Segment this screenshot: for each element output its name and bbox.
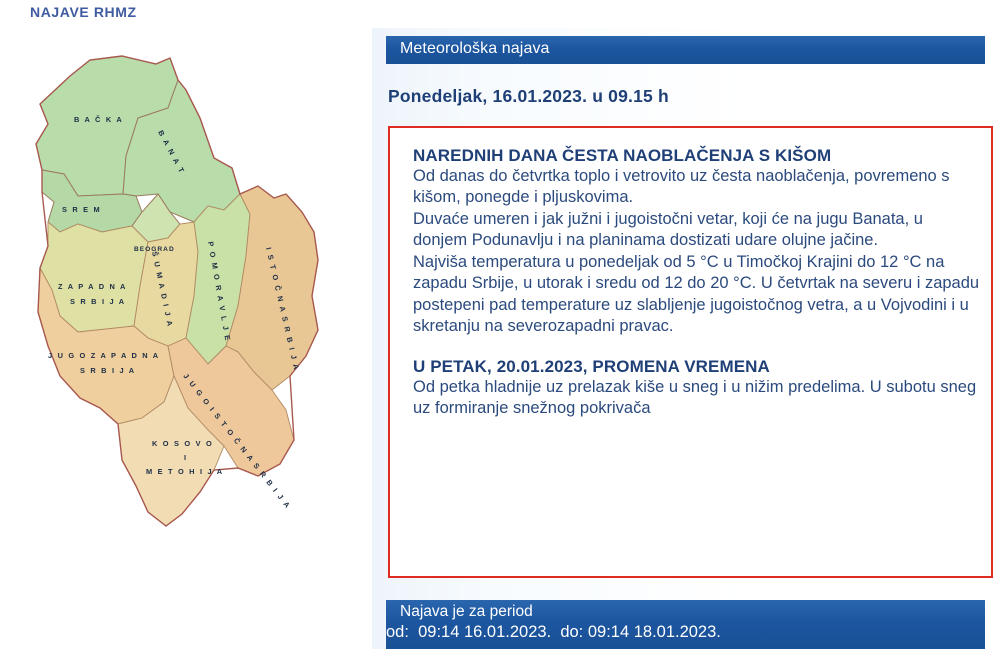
- alert-box: NAREDNIH DANA ČESTA NAOBLAČENJA S KIŠOM …: [388, 126, 993, 578]
- alert-heading-secondary: U PETAK, 20.01.2023, PROMENA VREMENA: [413, 357, 981, 376]
- serbia-regions-map: B A Č K A B A N A T S R E M BEOGRAD Z A …: [18, 46, 358, 606]
- map-label-kosovo-i: I: [184, 453, 188, 462]
- map-label-jugozapadna-srbija: J U G O Z A P A D N A: [48, 351, 160, 360]
- alert-body-primary: Od danas do četvrtka toplo i vetrovito u…: [413, 166, 981, 338]
- alert-heading-primary: NAREDNIH DANA ČESTA NAOBLAČENJA S KIŠOM: [413, 146, 981, 165]
- report-panel: Meteorološka najava Ponedeljak, 16.01.20…: [372, 28, 1000, 649]
- report-footer-bar: Najava je za period od: 09:14 16.01.2023…: [386, 600, 985, 649]
- report-header-bar: Meteorološka najava: [386, 36, 985, 64]
- footer-period-range: od: 09:14 16.01.2023. do: 09:14 18.01.20…: [386, 623, 721, 642]
- map-label-kosovo: K O S O V O: [152, 439, 213, 448]
- alert-paragraph-spacer: [413, 338, 981, 357]
- map-panel: B A Č K A B A N A T S R E M BEOGRAD Z A …: [0, 38, 372, 649]
- page-title: NAJAVE RHMZ: [30, 4, 137, 20]
- map-label-zapadna-srbija-2: S R B I J A: [70, 297, 126, 306]
- map-label-jugozapadna-srbija-2: S R B I J A: [80, 366, 136, 375]
- alert-body-secondary: Od petka hladnije uz prelazak kiše u sne…: [413, 377, 981, 420]
- report-subtitle-datetime: Ponedeljak, 16.01.2023. u 09.15 h: [388, 86, 669, 107]
- alert-content: NAREDNIH DANA ČESTA NAOBLAČENJA S KIŠOM …: [413, 146, 981, 419]
- map-label-srem: S R E M: [62, 205, 101, 214]
- report-header-title: Meteorološka najava: [400, 40, 550, 58]
- map-label-backa: B A Č K A: [74, 115, 123, 124]
- map-label-zapadna-srbija: Z A P A D N A: [58, 282, 127, 291]
- footer-period-label: Najava je za period: [400, 603, 533, 621]
- map-label-metohija: M E T O H I J A: [146, 467, 224, 476]
